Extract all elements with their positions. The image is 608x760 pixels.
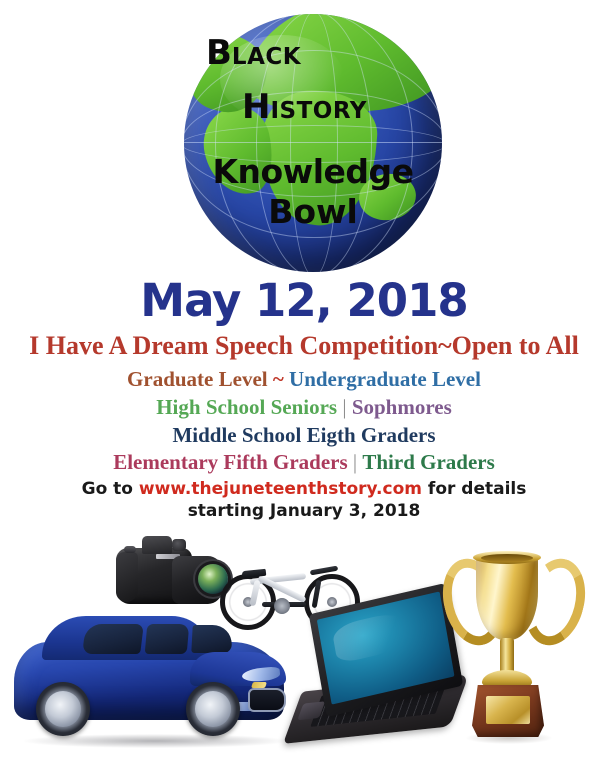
level-elementary-fifth: Elementary Fifth Graders (113, 450, 347, 474)
camera-pentaprism (142, 536, 172, 554)
level-middle-school: Middle School Eigth Graders (172, 423, 435, 447)
car-roof (42, 616, 210, 660)
car-shadow (24, 734, 286, 748)
level-sophmores: Sophmores (352, 395, 452, 419)
event-date-headline: May 12, 2018 (0, 278, 608, 323)
level-separator-bar: | (348, 450, 363, 474)
level-separator-bar: | (337, 395, 352, 419)
trophy-name-plaque (486, 696, 530, 724)
globe-title-line-history: HISTORY (242, 90, 367, 124)
cta-suffix: for details (422, 479, 526, 499)
start-date-line: starting January 3, 2018 (0, 503, 608, 520)
laptop-screen (317, 591, 455, 704)
globe-title-line-knowledge: Knowledge (184, 152, 442, 191)
bicycle-crankset (274, 598, 290, 614)
car-window-rear (82, 624, 144, 654)
globe-title-line-bowl: Bowl (184, 192, 442, 231)
globe-title-history-initial: H (242, 87, 270, 127)
prize-collage (0, 528, 608, 760)
car-emblem (251, 682, 267, 688)
car-image (14, 616, 286, 748)
globe-title-block: BLACK HISTORY Knowledge Bowl (184, 14, 442, 272)
globe-logo: BLACK HISTORY Knowledge Bowl (184, 14, 442, 272)
website-cta-line: Go to www.thejuneteenthstory.com for det… (0, 481, 608, 498)
level-graduate: Graduate Level (127, 367, 268, 391)
level-third-graders: Third Graders (362, 450, 494, 474)
car-wheel-rear (36, 682, 90, 736)
trophy-image (436, 542, 576, 750)
level-line-1: Graduate Level ~ Undergraduate Level (0, 369, 608, 390)
trophy-cup (476, 554, 538, 640)
globe-title-history-rest: ISTORY (270, 98, 366, 124)
laptop-screen-glare (331, 610, 414, 665)
trophy-cup-interior (481, 554, 533, 562)
camera-mode-dial (172, 539, 186, 551)
level-line-3: Middle School Eigth Graders (0, 425, 608, 446)
car-wheel-front (186, 682, 240, 736)
website-url-link[interactable]: www.thejuneteenthstory.com (139, 479, 422, 499)
car-window-middle (145, 624, 190, 654)
globe-title-black-initial: B (206, 33, 232, 73)
globe-title-black-rest: LACK (232, 44, 301, 70)
camera-shutter-button (124, 546, 136, 553)
level-undergraduate: Undergraduate Level (289, 367, 481, 391)
camera-grip (116, 552, 138, 602)
event-subtitle: I Have A Dream Speech Competition~Open t… (0, 333, 608, 359)
level-line-4: Elementary Fifth Graders | Third Graders (0, 452, 608, 473)
level-high-school-seniors: High School Seniors (156, 395, 337, 419)
cta-prefix: Go to (82, 479, 139, 499)
car-grille (248, 688, 286, 712)
level-line-2: High School Seniors | Sophmores (0, 397, 608, 418)
globe-title-line-black: BLACK (206, 36, 301, 70)
level-separator-tilde: ~ (268, 367, 289, 391)
camera-image (116, 534, 228, 612)
trophy-stem (500, 638, 514, 674)
